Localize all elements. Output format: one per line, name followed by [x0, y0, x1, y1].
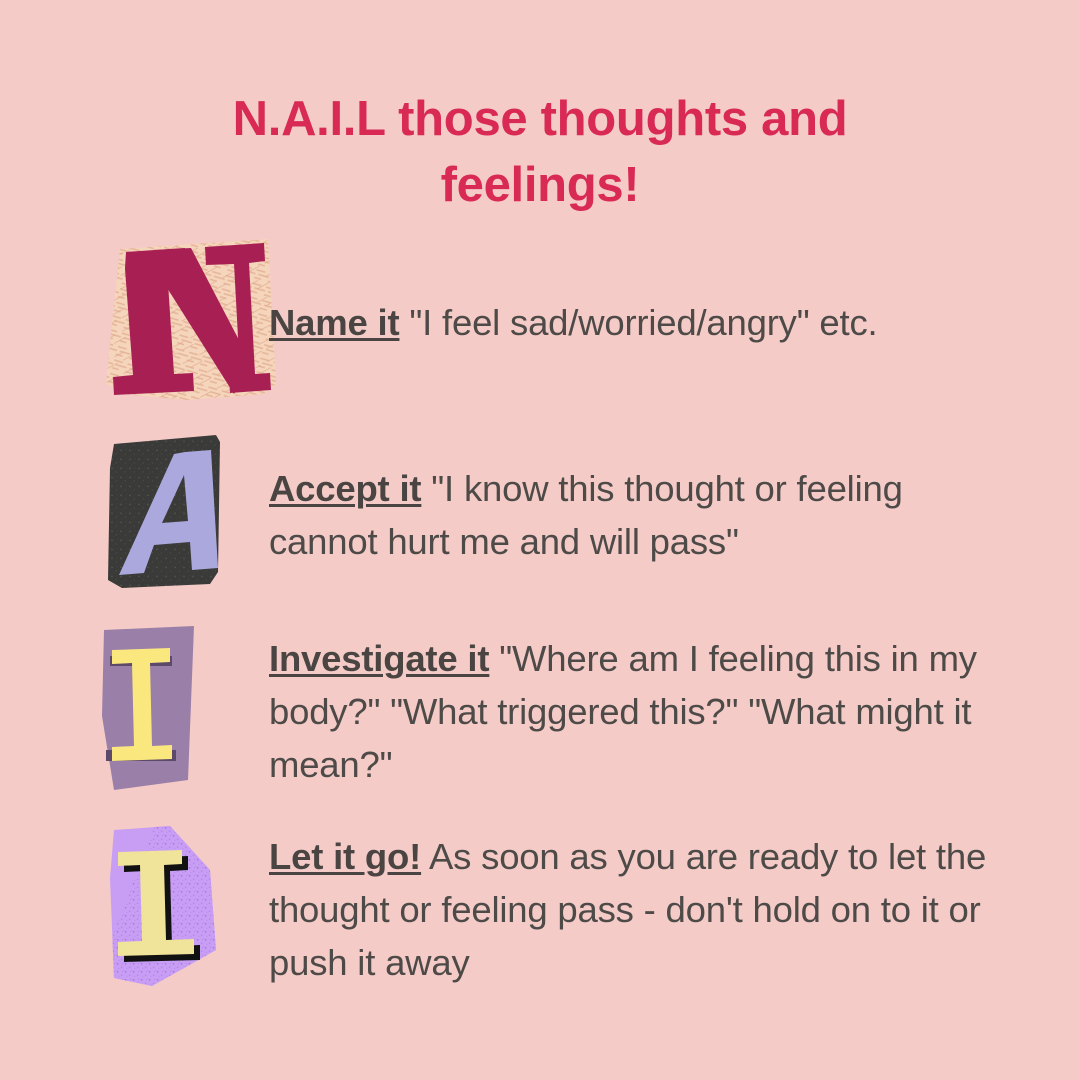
letter-tile-n: [92, 234, 282, 409]
letter-a-icon: [92, 430, 282, 600]
letter-tile-i: [92, 620, 282, 798]
item-lead-let-it-go: Let it go!: [269, 836, 421, 877]
item-lead-investigate: Investigate it: [269, 638, 489, 679]
letter-tile-l: [92, 818, 282, 996]
item-body-name: "I feel sad/worried/angry" etc.: [399, 302, 877, 343]
item-lead-accept: Accept it: [269, 468, 421, 509]
letter-l-icon: [92, 818, 282, 996]
page-title-line-2: feelings!: [0, 152, 1080, 218]
letter-tile-a: [92, 430, 282, 600]
poster-canvas: N.A.I.L those thoughts and feelings!: [0, 0, 1080, 1080]
page-title-line-1: N.A.I.L those thoughts and: [0, 86, 1080, 152]
page-title: N.A.I.L those thoughts and feelings!: [0, 86, 1080, 218]
item-text-investigate: Investigate it "Where am I feeling this …: [269, 632, 999, 791]
item-text-name: Name it "I feel sad/worried/angry" etc.: [269, 296, 999, 349]
item-text-accept: Accept it "I know this thought or feelin…: [269, 462, 999, 568]
letter-n-icon: [92, 234, 282, 409]
letter-i-icon: [92, 620, 282, 798]
item-text-let-it-go: Let it go! As soon as you are ready to l…: [269, 830, 999, 989]
item-lead-name: Name it: [269, 302, 399, 343]
